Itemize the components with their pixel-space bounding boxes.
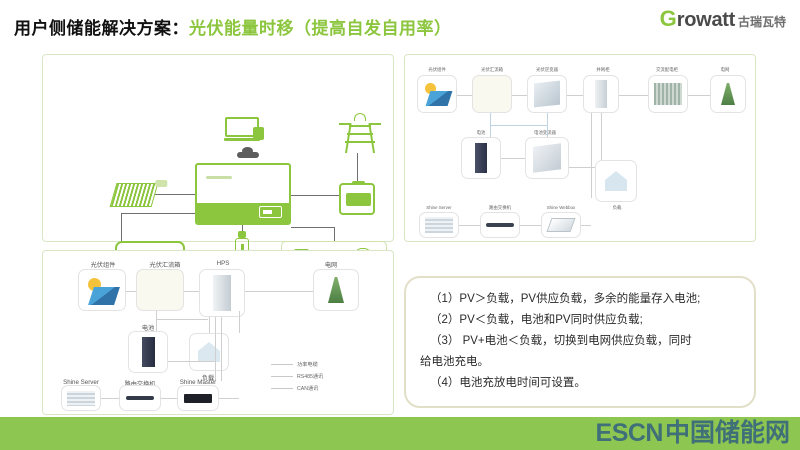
- legend-rs485: RS485通讯: [271, 373, 323, 380]
- node-shine-webbox-tr: [541, 212, 581, 238]
- node-shine-server-tr: [419, 212, 459, 238]
- inverter-tab-mid: [242, 163, 247, 165]
- wire-tr-r3-c: [581, 225, 591, 226]
- watermark-escn-text: ESCN: [596, 421, 663, 446]
- label-router-switch-tr: 路由交换机: [489, 205, 511, 211]
- node-grid-tower-tr: [710, 75, 746, 113]
- wire-tr-vert-long: [591, 113, 592, 198]
- cloud-icon: [237, 147, 259, 158]
- label-shine-server-tr: Shine Server: [426, 205, 451, 210]
- legend-line-can: [271, 388, 293, 389]
- wire-bl-batt-h: [168, 361, 215, 362]
- rule-line-4: （4）电池充放电时间可设置。: [420, 373, 746, 394]
- slide-header: 用户侧储能解决方案：光伏能量时移（提高自发自用率） Growatt古瑞瓦特: [0, 0, 800, 44]
- wire-inverter-to-loads-h: [291, 227, 335, 228]
- node-pv-combiner-tr: [472, 75, 512, 113]
- node-router-switch-tr: [480, 212, 520, 238]
- grid-tower-icon: [341, 113, 379, 153]
- wire-bl-r3-a: [101, 398, 119, 399]
- legend-power-cable: 功率电缆: [271, 361, 318, 368]
- label-shine-webbox-tr: Shine Webbox: [547, 205, 575, 210]
- label-battery-tr: 电池: [477, 130, 486, 136]
- wire-tr-r1-a: [457, 95, 472, 96]
- wire-tr-r1-b: [512, 95, 527, 96]
- wire-tr-r1-e: [688, 95, 710, 96]
- tower-leg-left: [345, 123, 351, 153]
- node-pv-module-tr: [417, 75, 457, 113]
- label-pv-combiner-tr: 光伏汇流箱: [481, 67, 503, 73]
- page-title-main: 用户侧储能解决方案：: [14, 19, 189, 38]
- meter-top-clip: [352, 181, 365, 185]
- tower-crossbar-3: [345, 141, 375, 143]
- label-pv-combiner-bl: 光伏汇流箱: [150, 260, 181, 269]
- wire-tr-r3-a: [459, 225, 480, 226]
- rule-line-1: （1）PV＞负载，PV供应负载，多余的能量存入电池;: [420, 289, 746, 310]
- tower-top: [354, 113, 366, 121]
- tower-leg-right: [369, 123, 375, 153]
- logo-g-letter: G: [660, 8, 677, 30]
- tower-arm-left: [339, 123, 351, 125]
- tower-crossbar-2: [347, 133, 373, 135]
- node-pv-module-bl: [78, 269, 126, 311]
- escn-watermark: ESCN 中国储能网: [596, 418, 790, 449]
- label-grid-tr: 电网: [721, 67, 730, 73]
- wire-bl-v3: [221, 317, 222, 381]
- wire-tr-mid-h: [490, 125, 547, 126]
- meter-box-icon: [339, 183, 375, 215]
- rule-line-3: （3） PV+电池＜负载，切换到电网供应负载，同时: [420, 331, 746, 352]
- meter-screen: [346, 193, 371, 206]
- inverter-brand-mark: [206, 176, 232, 179]
- logo-chinese-name: 古瑞瓦特: [738, 16, 786, 28]
- wire-inverter-to-meter: [291, 195, 339, 196]
- node-shine-master-bl: [177, 385, 219, 411]
- node-battery-bl: [128, 331, 168, 373]
- wire-tr-batt-pcs: [501, 158, 525, 159]
- label-ac-distribution-tr: 交流配电柜: [656, 67, 678, 73]
- panel-hps-topology: 光伏组件 光伏汇流箱 HPS 电网 电池 负载: [42, 250, 394, 415]
- page-title: 用户侧储能解决方案：光伏能量时移（提高自发自用率）: [14, 14, 452, 39]
- wire-tr-inv-down: [547, 113, 548, 137]
- node-router-switch-bl: [119, 385, 161, 411]
- legend-label-power: 功率电缆: [297, 361, 318, 368]
- cloud-top: [242, 147, 253, 155]
- label-pv-module-bl: 光伏组件: [91, 260, 116, 269]
- slide-canvas: 用户侧储能解决方案：光伏能量时移（提高自发自用率） Growatt古瑞瓦特: [0, 0, 800, 450]
- inverter-display: [259, 206, 282, 218]
- panel-residential-overview: [42, 54, 394, 242]
- pv-array-icon: [110, 183, 159, 207]
- wire-bl-r3-c: [219, 398, 239, 399]
- operating-rules-list: （1）PV＞负载，PV供应负载，多余的能量存入电池; （2）PV＜负载，电池和P…: [420, 289, 746, 394]
- legend-can: CAN通讯: [271, 385, 318, 392]
- node-shine-server-bl: [61, 385, 101, 411]
- wire-bl-hps-down: [209, 317, 210, 333]
- wire-tr-r1-c: [567, 95, 583, 96]
- wire-bl-r3-b: [161, 398, 177, 399]
- legend-label-rs485: RS485通讯: [297, 373, 323, 380]
- label-load-tr: 负载: [613, 205, 622, 211]
- node-pv-inverter-tr: [527, 75, 567, 113]
- label-grid-cabinet-tr: 并网柜: [596, 67, 609, 73]
- node-ac-distribution-tr: [648, 75, 688, 113]
- legend-line-power: [271, 364, 293, 365]
- wire-bl-v2: [215, 317, 216, 381]
- tower-arm-right: [369, 123, 381, 125]
- wire-tr-r3-b: [520, 225, 541, 226]
- inverter-tab-left: [207, 163, 212, 165]
- label-pv-module-tr: 光伏组件: [428, 67, 446, 73]
- label-hps-bl: HPS: [217, 260, 230, 267]
- label-pcs-tr: 电池变流器: [534, 130, 556, 136]
- label-pv-inverter-tr: 光伏逆变器: [536, 67, 558, 73]
- logo-rowatt-text: rowatt: [677, 10, 735, 30]
- legend-label-can: CAN通讯: [297, 385, 318, 392]
- wire-bl-r1-a: [126, 291, 136, 292]
- growatt-logo: Growatt古瑞瓦特: [660, 8, 786, 30]
- label-grid-bl: 电网: [325, 260, 337, 269]
- wire-meter-to-tower: [357, 153, 358, 183]
- wire-pv-to-inverter: [155, 194, 195, 195]
- laptop-monitor-icon: [225, 117, 265, 142]
- rule-line-2: （2）PV＜负载，电池和PV同时供应负载;: [420, 310, 746, 331]
- wire-tr-cab-load: [601, 113, 602, 160]
- node-hps-bl: [199, 269, 245, 317]
- legend-line-rs485: [271, 376, 293, 377]
- rule-line-3-cont: 给电池充电。: [420, 352, 746, 373]
- panel-commercial-topology: 光伏组件 光伏汇流箱 光伏逆变器 并网柜 交流配电柜 电网 电池: [404, 54, 756, 242]
- panel-operating-rules: （1）PV＞负载，PV供应负载，多余的能量存入电池; （2）PV＜负载，电池和P…: [404, 276, 756, 408]
- wire-bl-r1-c: [245, 291, 313, 292]
- wire-tr-r1-d: [619, 95, 648, 96]
- node-battery-tr: [461, 137, 501, 179]
- wire-bl-comb-down: [156, 311, 157, 331]
- lamp-cap: [238, 231, 246, 238]
- node-load-house-tr: [595, 160, 637, 202]
- wire-inverter-to-loads-v: [334, 227, 335, 241]
- wire-inverter-to-battery-h: [121, 213, 195, 214]
- wire-bl-load-v: [239, 311, 240, 333]
- node-grid-cabinet-tr: [583, 75, 619, 113]
- watermark-chinese-text: 中国储能网: [665, 421, 790, 446]
- page-title-accent: 光伏能量时移（提高自发自用率）: [189, 19, 452, 38]
- node-load-house-bl: [189, 333, 229, 371]
- node-pv-combiner-bl: [136, 269, 184, 311]
- hybrid-inverter-icon: [195, 163, 291, 225]
- inverter-tab-right: [277, 163, 282, 165]
- residential-diagram: [43, 55, 393, 241]
- wire-bl-mid-h: [156, 319, 208, 320]
- node-pcs-tr: [525, 137, 569, 179]
- phone-icon: [253, 127, 264, 140]
- wire-bl-r1-b: [184, 291, 199, 292]
- tower-crossbar-1: [349, 125, 371, 127]
- node-grid-tower-bl: [313, 269, 359, 311]
